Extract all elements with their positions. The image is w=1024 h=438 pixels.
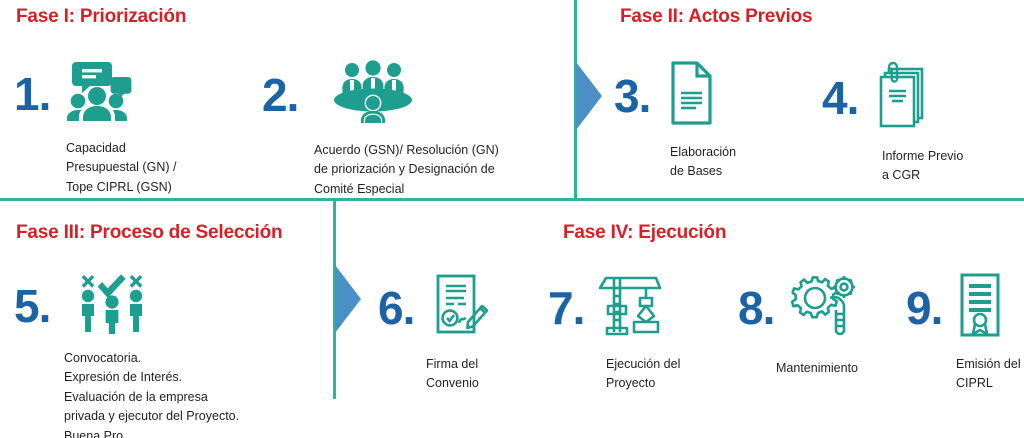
step-9: 9. <box>906 272 1021 394</box>
step-6-label: Firma del Convenio <box>426 355 494 394</box>
arrow-to-phase-4-icon <box>335 265 361 333</box>
step-9-number: 9. <box>906 285 942 331</box>
arrow-to-phase-2-icon <box>576 62 602 130</box>
step-4-number: 4. <box>822 75 858 121</box>
step-3: 3. Elaboración de Bases <box>614 60 736 182</box>
step-2-number: 2. <box>262 72 298 118</box>
step-8: 8. Mant <box>738 272 864 378</box>
step-6-number: 6. <box>378 285 414 331</box>
step-5-label: Convocatoria. Expresión de Interés. Eval… <box>64 349 239 438</box>
phase-title-2: Fase II: Actos Previos <box>620 6 812 28</box>
step-7-head: 7. <box>548 272 680 343</box>
step-1-number: 1. <box>14 71 50 117</box>
step-3-number: 3. <box>614 73 650 119</box>
step-1-label: Capacidad Presupuestal (GN) / Tope CIPRL… <box>66 139 176 197</box>
phase-title-3: Fase III: Proceso de Selección <box>16 222 282 244</box>
step-8-number: 8. <box>738 285 774 331</box>
step-4-head: 4. <box>822 60 963 135</box>
people-discussion-icon <box>60 60 136 127</box>
step-6-head: 6. <box>378 272 494 343</box>
step-5-number: 5. <box>14 283 50 329</box>
certificate-seal-icon <box>954 272 1006 343</box>
step-3-label: Elaboración de Bases <box>670 143 736 182</box>
step-7: 7. <box>548 272 680 394</box>
step-9-label: Emisión del CIPRL <box>956 355 1021 394</box>
step-7-number: 7. <box>548 285 584 331</box>
construction-crane-icon <box>594 272 666 343</box>
step-2: 2. <box>262 60 499 199</box>
step-2-head: 2. <box>262 60 499 129</box>
step-8-head: 8. <box>738 272 864 343</box>
gear-wrench-icon <box>788 272 864 343</box>
signed-contract-pen-icon <box>428 272 494 343</box>
document-lines-icon <box>664 60 720 131</box>
step-6: 6. <box>378 272 494 394</box>
phase-title-1: Fase I: Priorización <box>16 6 186 28</box>
step-8-label: Mantenimiento <box>776 359 864 378</box>
divider-horizontal-middle <box>0 198 1024 201</box>
committee-meeting-icon <box>330 60 416 129</box>
step-2-label: Acuerdo (GSN)/ Resolución (GN) de priori… <box>314 141 499 199</box>
step-9-head: 9. <box>906 272 1021 343</box>
step-1: 1. Capa <box>14 60 176 197</box>
step-3-head: 3. <box>614 60 736 131</box>
process-flow-infographic: Fase I: Priorización Fase II: Actos Prev… <box>0 0 1024 438</box>
step-5: 5. Convocatoria. Exp <box>14 272 239 438</box>
step-5-head: 5. <box>14 272 239 339</box>
step-4: 4. <box>822 60 963 186</box>
step-1-head: 1. <box>14 60 176 127</box>
step-7-label: Ejecución del Proyecto <box>606 355 680 394</box>
three-people-check-icon <box>72 272 152 339</box>
step-4-label: Informe Previo a CGR <box>882 147 963 186</box>
phase-title-4: Fase IV: Ejecución <box>563 222 726 244</box>
stacked-documents-clip-icon <box>872 60 934 135</box>
